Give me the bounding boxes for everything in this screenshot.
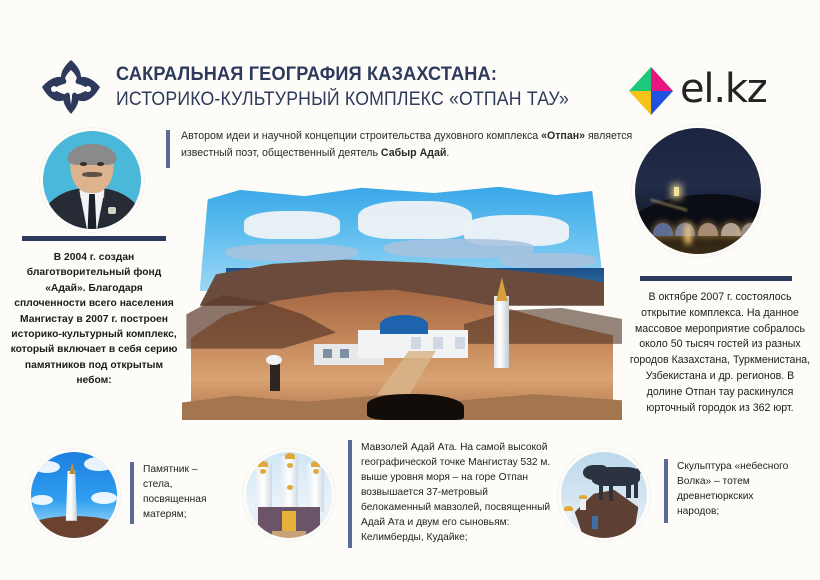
- window: [455, 337, 466, 349]
- cloud: [244, 211, 341, 240]
- caption-stela: Памятник –стела, посвященная матерям;: [130, 462, 226, 522]
- elkz-wordmark: el.kz: [680, 63, 767, 115]
- street-lamp-pole: [270, 363, 280, 392]
- mausoleum-medallion: [287, 485, 293, 490]
- landscape-dark-rock: [367, 394, 464, 420]
- background-monument-cap: [564, 506, 573, 511]
- wolf-head: [583, 465, 607, 480]
- background-monument: [580, 498, 586, 510]
- cloud: [499, 253, 596, 267]
- portrait-eye-left: [80, 162, 87, 165]
- caption-accent-bar: [348, 440, 352, 548]
- header: САКРАЛЬНАЯ ГЕОГРАФИЯ КАЗАХСТАНА: ИСТОРИК…: [0, 26, 820, 104]
- page-title: САКРАЛЬНАЯ ГЕОГРАФИЯ КАЗАХСТАНА: ИСТОРИК…: [116, 62, 616, 112]
- night-lamp-glow: [685, 224, 691, 244]
- quote-bold-otpan: «Отпан»: [541, 130, 585, 142]
- window: [323, 349, 332, 359]
- mausoleum-dome: [285, 453, 294, 459]
- adai-ata-mausoleum-photo: [243, 449, 335, 541]
- stela-column: [66, 471, 77, 521]
- infographic-page: САКРАЛЬНАЯ ГЕОГРАФИЯ КАЗАХСТАНА: ИСТОРИК…: [0, 0, 820, 580]
- caption-text: Скульптура «небесного Волка» – тотем дре…: [677, 459, 794, 519]
- title-line-1: САКРАЛЬНАЯ ГЕОГРАФИЯ КАЗАХСТАНА:: [116, 62, 581, 87]
- cloud: [34, 461, 60, 473]
- cloud: [91, 492, 117, 504]
- cloud: [358, 201, 472, 239]
- window: [340, 349, 349, 359]
- background-monument-cap: [579, 495, 587, 499]
- night-ground: [635, 234, 761, 254]
- wolf-leg: [609, 484, 613, 501]
- intro-quote: Автором идеи и научной концепции строите…: [166, 128, 636, 161]
- left-panel-divider: [22, 236, 166, 241]
- caption-mausoleum: Мавзолей Адай Ата. На самой высокой геог…: [348, 440, 553, 545]
- kazakh-ornament-icon: [34, 56, 108, 118]
- caption-accent-bar: [130, 462, 134, 524]
- cloud: [226, 244, 358, 261]
- background-monument: [564, 511, 572, 530]
- caption-text: Памятник –стела, посвященная матерям;: [143, 462, 226, 522]
- portrait-sabyr-adai: [40, 128, 144, 232]
- portrait-mustache: [82, 172, 102, 177]
- stela-monument-photo: [28, 449, 120, 541]
- portrait-lapel-pin: [108, 207, 117, 214]
- left-panel-text: В 2004 г. создан благотворительный фонд …: [8, 250, 180, 389]
- right-panel-divider: [640, 276, 792, 281]
- quote-text: Автором идеи и научной концепции строите…: [181, 128, 636, 161]
- minaret: [494, 296, 509, 367]
- mausoleum-dome: [258, 461, 267, 467]
- elkz-logo[interactable]: el.kz: [624, 62, 794, 120]
- quote-bold-name: Сабыр Адай: [381, 147, 446, 159]
- right-panel-text: В октябре 2007 г. состоялось открытие ко…: [628, 290, 812, 416]
- mosque-blue-dome: [380, 315, 428, 334]
- window: [433, 337, 444, 349]
- wolf-plaque: [592, 516, 598, 530]
- night-yurt-camp-photo: [632, 125, 764, 257]
- portrait-eye-right: [97, 162, 104, 165]
- quote-part-3: .: [446, 147, 449, 159]
- title-line-2: ИСТОРИКО-КУЛЬТУРНЫЙ КОМПЛЕКС «ОТПАН ТАУ»: [116, 87, 581, 112]
- otpan-tau-landscape-illustration: [182, 182, 622, 420]
- quote-accent-bar: [166, 130, 170, 168]
- caption-text: Мавзолей Адай Ата. На самой высокой геог…: [361, 440, 553, 545]
- cloud: [84, 457, 113, 471]
- mausoleum-dome: [311, 461, 320, 467]
- mausoleum-steps: [272, 531, 306, 538]
- elkz-diamond-icon: [624, 64, 678, 118]
- night-lit-monument: [674, 187, 679, 196]
- caption-wolf: Скульптура «небесного Волка» – тотем дре…: [664, 459, 794, 519]
- window: [411, 337, 422, 349]
- caption-accent-bar: [664, 459, 668, 523]
- quote-part-1: Автором идеи и научной концепции строите…: [181, 130, 541, 142]
- mausoleum-door: [282, 511, 296, 532]
- sky-wolf-sculpture-photo: [558, 449, 650, 541]
